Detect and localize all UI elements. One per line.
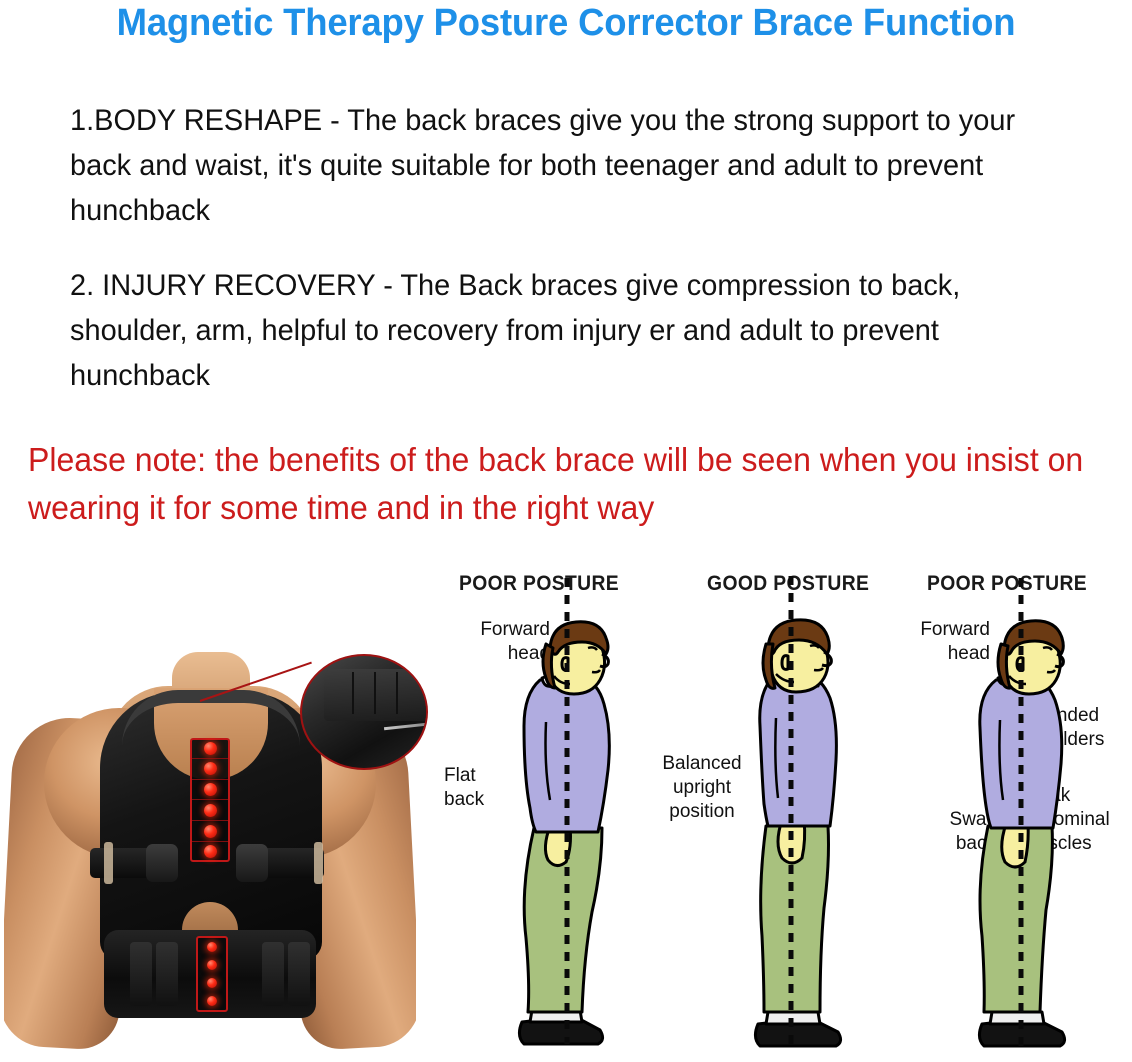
magnet-divider xyxy=(192,779,228,780)
magnet-divider xyxy=(192,758,228,759)
benefit-body-reshape: 1.BODY RESHAPE - The back braces give yo… xyxy=(70,98,1074,233)
belt-rib xyxy=(262,942,284,1006)
magnet-divider xyxy=(192,820,228,821)
belt-rib xyxy=(156,942,178,1006)
magnet-divider xyxy=(192,799,228,800)
brace-detail-inset xyxy=(300,654,428,770)
belt-rib xyxy=(288,942,310,1006)
magnet-dot xyxy=(204,825,217,838)
sock xyxy=(990,1012,1044,1024)
magnet-dot xyxy=(204,804,217,817)
figure-poor-posture-right xyxy=(946,614,1126,1062)
inset-seam xyxy=(374,672,376,715)
magnet-divider xyxy=(192,841,228,842)
heading-good-posture: GOOD POSTURE xyxy=(707,572,869,596)
left-strap-buckle xyxy=(146,844,178,882)
belt-rib xyxy=(130,942,152,1006)
benefit-injury-recovery: 2. INJURY RECOVERY - The Back braces giv… xyxy=(70,263,1074,398)
right-strap-slider xyxy=(314,842,323,884)
magnet-dot xyxy=(204,742,217,755)
right-strap-buckle xyxy=(236,844,268,882)
inset-seam xyxy=(396,672,398,715)
magnet-dot xyxy=(207,978,217,988)
please-note-text: Please note: the benefits of the back br… xyxy=(28,436,1085,532)
magnet-dot xyxy=(207,996,217,1006)
lower-magnet-panel xyxy=(196,936,228,1012)
magnet-dot xyxy=(204,845,217,858)
page-title: Magnetic Therapy Posture Corrector Brace… xyxy=(23,2,1110,45)
inset-magnet-rod xyxy=(384,723,426,730)
magnet-dot xyxy=(207,960,217,970)
illustration-band: POOR POSTURE GOOD POSTURE POOR POSTURE F… xyxy=(0,572,1132,1062)
hand xyxy=(1002,824,1028,867)
magnet-dot xyxy=(204,783,217,796)
benefits-copy: 1.BODY RESHAPE - The back braces give yo… xyxy=(70,98,1110,428)
figure-poor-posture-left xyxy=(488,614,668,1062)
heading-poor-posture-left: POOR POSTURE xyxy=(459,572,619,596)
infographic-page: Magnetic Therapy Posture Corrector Brace… xyxy=(0,0,1132,1062)
shirt xyxy=(760,676,837,826)
figure-good-posture xyxy=(728,614,898,1062)
upper-magnet-panel xyxy=(190,738,230,862)
heading-poor-posture-right: POOR POSTURE xyxy=(927,572,1087,596)
magnet-dot xyxy=(207,942,217,952)
left-strap-slider xyxy=(104,842,113,884)
inset-pad xyxy=(324,669,428,721)
magnet-dot xyxy=(204,762,217,775)
ear xyxy=(782,656,788,670)
inset-seam xyxy=(352,672,354,715)
